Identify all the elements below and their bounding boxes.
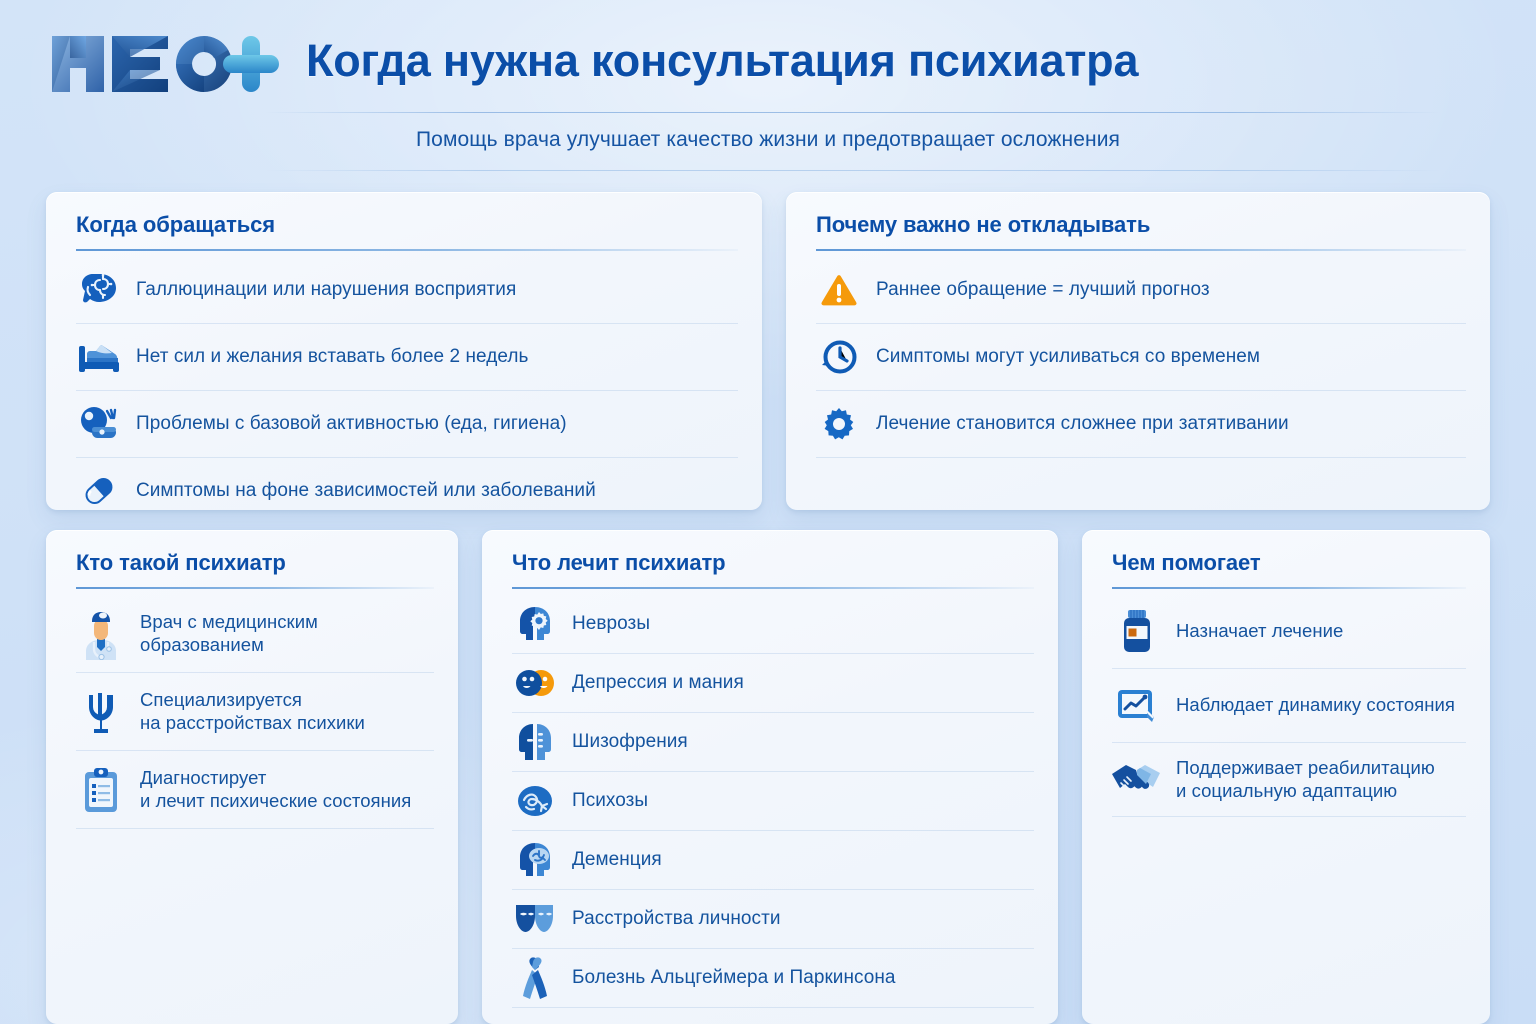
list-item[interactable]: Деменция <box>512 831 1034 890</box>
page-title: Когда нужна консультация психиатра <box>306 35 1138 87</box>
item-list: Назначает лечение Наблюдает динам <box>1112 595 1466 817</box>
card-when-to-seek-help: Когда обращаться <box>46 192 762 510</box>
warning-triangle-icon <box>816 267 862 313</box>
card-title-divider <box>512 587 1034 589</box>
list-item-label: Депрессия и мания <box>572 671 744 695</box>
awareness-ribbon-icon <box>512 955 558 1001</box>
list-item[interactable]: Лечение становится сложнее при затятиван… <box>816 391 1466 458</box>
list-item-label: Врач с медицинским образованием <box>140 611 318 657</box>
psi-symbol-icon <box>76 685 126 739</box>
meal-hygiene-icon <box>76 401 122 447</box>
list-item[interactable]: Психозы <box>512 772 1034 831</box>
brain-icon <box>76 267 122 313</box>
medicine-bottle-icon <box>1112 607 1162 657</box>
card-row-bottom: Кто такой психиатр <box>46 530 1490 1024</box>
card-title-divider <box>1112 587 1466 589</box>
list-item[interactable]: Неврозы <box>512 595 1034 654</box>
card-title: Кто такой психиатр <box>76 550 434 587</box>
head-gear-icon <box>512 601 558 647</box>
list-item-label: Неврозы <box>572 612 650 636</box>
two-faces-icon <box>512 660 558 706</box>
card-title: Что лечит психиатр <box>512 550 1034 587</box>
tangled-mind-icon <box>512 778 558 824</box>
item-list: Галлюцинации или нарушения восприятия Не… <box>76 257 738 510</box>
gear-icon <box>816 401 862 447</box>
list-item[interactable]: Диагностирует и лечит психические состоя… <box>76 751 434 829</box>
card-title-divider <box>76 587 434 589</box>
card-title: Чем помогает <box>1112 550 1466 587</box>
list-item-label: Шизофрения <box>572 730 688 754</box>
list-item[interactable]: Симптомы на фоне зависимостей или заболе… <box>76 458 738 510</box>
list-item[interactable]: Назначает лечение <box>1112 595 1466 669</box>
head-brain-icon <box>512 837 558 883</box>
theater-masks-icon <box>512 896 558 942</box>
header-divider-top <box>265 112 1440 113</box>
list-item[interactable]: Галлюцинации или нарушения восприятия <box>76 257 738 324</box>
list-item-label: Поддерживает реабилитацию и социальную а… <box>1176 757 1435 803</box>
card-what-psychiatrist-treats: Что лечит психиатр Неврозы <box>482 530 1058 1024</box>
list-item-label: Психозы <box>572 789 648 813</box>
list-item[interactable]: Наблюдает динамику состояния <box>1112 669 1466 743</box>
list-item-label: Болезнь Альцгеймера и Паркинсона <box>572 966 896 990</box>
header-divider-bottom <box>265 170 1440 171</box>
list-item[interactable]: Врач с медицинским образованием <box>76 595 434 673</box>
page-header: Когда нужна консультация психиатра Помощ… <box>0 0 1536 172</box>
clipboard-icon <box>76 763 126 817</box>
clock-icon <box>816 334 862 380</box>
pill-capsule-icon <box>76 468 122 510</box>
split-head-icon <box>512 719 558 765</box>
card-who-is-psychiatrist: Кто такой психиатр <box>46 530 458 1024</box>
list-item-label: Расстройства личности <box>572 907 781 931</box>
list-item[interactable]: Депрессия и мания <box>512 654 1034 713</box>
list-item[interactable]: Симптомы могут усиливаться со временем <box>816 324 1466 391</box>
list-item-label: Проблемы с базовой активностью (еда, гиг… <box>136 412 567 436</box>
bed-icon <box>76 334 122 380</box>
list-item-label: Галлюцинации или нарушения восприятия <box>136 278 516 302</box>
list-item-label: Деменция <box>572 848 662 872</box>
item-list: Раннее обращение = лучший прогноз Симпто… <box>816 257 1466 458</box>
list-item-label: Специализируется на расстройствах психик… <box>140 689 365 735</box>
chart-monitor-icon <box>1112 681 1162 731</box>
doctor-icon <box>76 607 126 661</box>
list-item[interactable]: Расстройства личности <box>512 890 1034 949</box>
list-item-label: Нет сил и желания вставать более 2 недел… <box>136 345 528 369</box>
list-item-label: Лечение становится сложнее при затятиван… <box>876 412 1289 436</box>
list-item[interactable]: Нет сил и желания вставать более 2 недел… <box>76 324 738 391</box>
list-item[interactable]: Болезнь Альцгеймера и Паркинсона <box>512 949 1034 1008</box>
list-item-label: Диагностирует и лечит психические состоя… <box>140 767 411 813</box>
card-title: Почему важно не откладывать <box>816 212 1466 249</box>
neo-plus-logo <box>46 30 284 96</box>
list-item[interactable]: Специализируется на расстройствах психик… <box>76 673 434 751</box>
list-item-label: Симптомы на фоне зависимостей или заболе… <box>136 479 596 503</box>
list-item-label: Симптомы могут усиливаться со временем <box>876 345 1260 369</box>
item-list: Неврозы <box>512 595 1034 1008</box>
list-item[interactable]: Поддерживает реабилитацию и социальную а… <box>1112 743 1466 817</box>
list-item[interactable]: Проблемы с базовой активностью (еда, гиг… <box>76 391 738 458</box>
card-grid: Когда обращаться <box>46 192 1490 1000</box>
handshake-icon <box>1112 755 1162 805</box>
card-title-divider <box>76 249 738 251</box>
list-item-label: Назначает лечение <box>1176 620 1343 643</box>
list-item[interactable]: Раннее обращение = лучший прогноз <box>816 257 1466 324</box>
card-title-divider <box>816 249 1466 251</box>
item-list: Врач с медицинским образованием Специали… <box>76 595 434 829</box>
card-how-it-helps: Чем помогает <box>1082 530 1490 1024</box>
list-item[interactable]: Шизофрения <box>512 713 1034 772</box>
list-item-label: Раннее обращение = лучший прогноз <box>876 278 1210 302</box>
card-why-not-delay: Почему важно не откладывать Раннее обращ… <box>786 192 1490 510</box>
page-subtitle: Помощь врача улучшает качество жизни и п… <box>0 128 1536 152</box>
card-title: Когда обращаться <box>76 212 738 249</box>
list-item-label: Наблюдает динамику состояния <box>1176 694 1455 717</box>
